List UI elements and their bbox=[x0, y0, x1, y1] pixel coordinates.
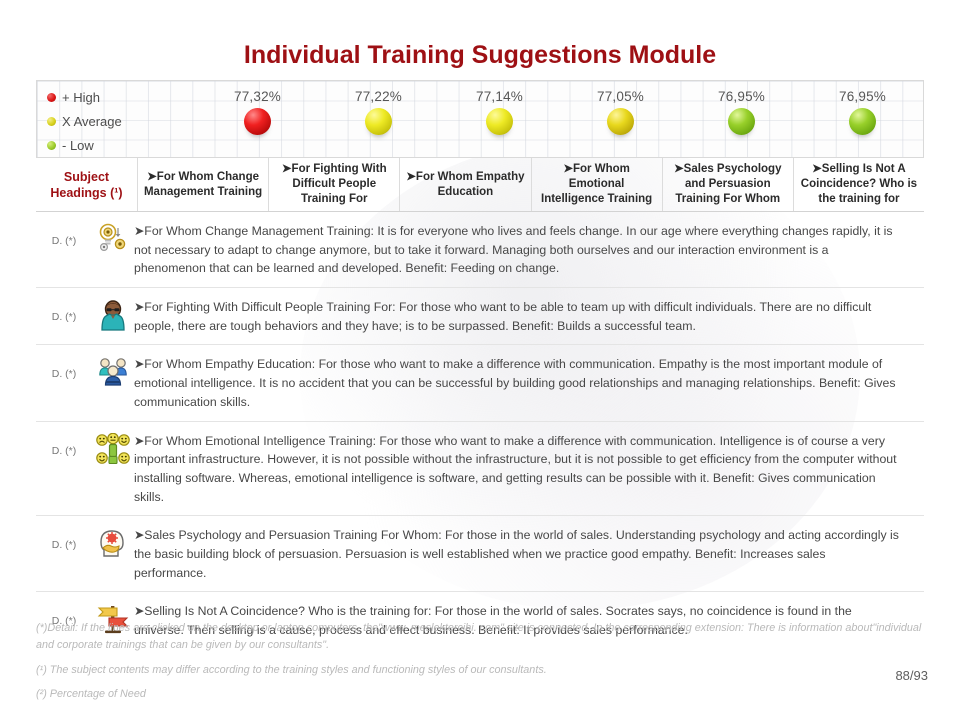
marker-ball-average bbox=[365, 108, 392, 135]
row-description: ➤For Fighting With Difficult People Trai… bbox=[134, 297, 924, 335]
legend-item-low: - Low bbox=[47, 133, 197, 157]
marker-value-label: 77,05% bbox=[597, 89, 644, 104]
row-detail-label[interactable]: D. (*) bbox=[36, 221, 92, 247]
yellow-dot-icon bbox=[47, 117, 56, 126]
table-body: D. (*) ➤For Whom Change Management Train… bbox=[36, 212, 924, 649]
green-dot-icon bbox=[47, 141, 56, 150]
table-row[interactable]: D. (*) ➤For Whom Change Management Train… bbox=[36, 212, 924, 288]
header-col-change-management[interactable]: ➤For Whom Change Management Training bbox=[138, 158, 269, 211]
row-description: ➤For Whom Emotional Intelligence Trainin… bbox=[134, 431, 924, 507]
table-header-row: Subject Headings (¹) ➤For Whom Change Ma… bbox=[36, 158, 924, 212]
header-col-sales-psychology[interactable]: ➤Sales Psychology and Persuasion Trainin… bbox=[663, 158, 794, 211]
marker-ball-low bbox=[728, 108, 755, 135]
row-detail-label[interactable]: D. (*) bbox=[36, 525, 92, 551]
header-subject-headings: Subject Headings (¹) bbox=[36, 158, 138, 211]
page-title: Individual Training Suggestions Module bbox=[0, 0, 960, 70]
header-col-emotional-intelligence[interactable]: ➤For Whom Emotional Intelligence Trainin… bbox=[532, 158, 663, 211]
table-row[interactable]: D. (*) ➤For Whom Empathy Education: For … bbox=[36, 345, 924, 421]
marker-value-label: 76,95% bbox=[839, 89, 886, 104]
legend-label-average: X Average bbox=[62, 114, 122, 129]
row-description: ➤For Whom Change Management Training: It… bbox=[134, 221, 924, 278]
table-row[interactable]: D. (*) ➤For Fighting With Difficult Peop… bbox=[36, 288, 924, 345]
footnote-detail: (*)Detail: If the lines are clicked on t… bbox=[36, 620, 926, 653]
team-group-icon bbox=[92, 354, 134, 390]
red-dot-icon bbox=[47, 93, 56, 102]
footnote-note-2: (²) Percentage of Need bbox=[36, 686, 926, 703]
chart-marker-cell: 77,22% bbox=[318, 81, 439, 157]
lightbulb-gear-icon bbox=[92, 221, 134, 257]
row-description: ➤Sales Psychology and Persuasion Trainin… bbox=[134, 525, 924, 582]
row-detail-label[interactable]: D. (*) bbox=[36, 431, 92, 457]
table-row[interactable]: D. (*) ➤Sales Psychology and Persuasion … bbox=[36, 516, 924, 592]
header-col-empathy[interactable]: ➤For Whom Empathy Education bbox=[400, 158, 531, 211]
footnote-note-1: (¹) The subject contents may differ acco… bbox=[36, 662, 926, 679]
chart-marker-cell: 76,95% bbox=[802, 81, 923, 157]
person-avatar-icon bbox=[92, 297, 134, 333]
chart-marker-cell: 76,95% bbox=[681, 81, 802, 157]
slide-page: Individual Training Suggestions Module +… bbox=[0, 0, 960, 720]
marker-value-label: 77,22% bbox=[355, 89, 402, 104]
marker-value-label: 76,95% bbox=[718, 89, 765, 104]
emotion-faces-icon bbox=[92, 431, 134, 467]
chart-panel: + High X Average - Low 77,32% 77,22% 77,… bbox=[36, 80, 924, 158]
table-row[interactable]: D. (*) bbox=[36, 422, 924, 517]
chart-legend: + High X Average - Low bbox=[47, 85, 197, 157]
chart-marker-cell: 77,32% bbox=[197, 81, 318, 157]
marker-ball-average bbox=[607, 108, 634, 135]
footnotes: (*)Detail: If the lines are clicked on t… bbox=[36, 620, 926, 710]
chart-marker-cell: 77,05% bbox=[560, 81, 681, 157]
header-col-difficult-people[interactable]: ➤For Fighting With Difficult People Trai… bbox=[269, 158, 400, 211]
legend-item-high: + High bbox=[47, 85, 197, 109]
legend-label-high: + High bbox=[62, 90, 100, 105]
row-description: ➤For Whom Empathy Education: For those w… bbox=[134, 354, 924, 411]
head-brain-handshake-icon bbox=[92, 525, 134, 561]
row-detail-label[interactable]: D. (*) bbox=[36, 297, 92, 323]
marker-ball-average bbox=[486, 108, 513, 135]
chart-markers: 77,32% 77,22% 77,14% 77,05% 76,95% 76,95… bbox=[197, 81, 923, 157]
marker-value-label: 77,32% bbox=[234, 89, 281, 104]
chart-marker-cell: 77,14% bbox=[439, 81, 560, 157]
marker-ball-high bbox=[244, 108, 271, 135]
legend-item-average: X Average bbox=[47, 109, 197, 133]
header-col-selling-coincidence[interactable]: ➤Selling Is Not A Coincidence? Who is th… bbox=[794, 158, 924, 211]
marker-ball-low bbox=[849, 108, 876, 135]
page-number: 88/93 bbox=[895, 668, 928, 683]
row-detail-label[interactable]: D. (*) bbox=[36, 354, 92, 380]
marker-value-label: 77,14% bbox=[476, 89, 523, 104]
legend-label-low: - Low bbox=[62, 138, 94, 153]
